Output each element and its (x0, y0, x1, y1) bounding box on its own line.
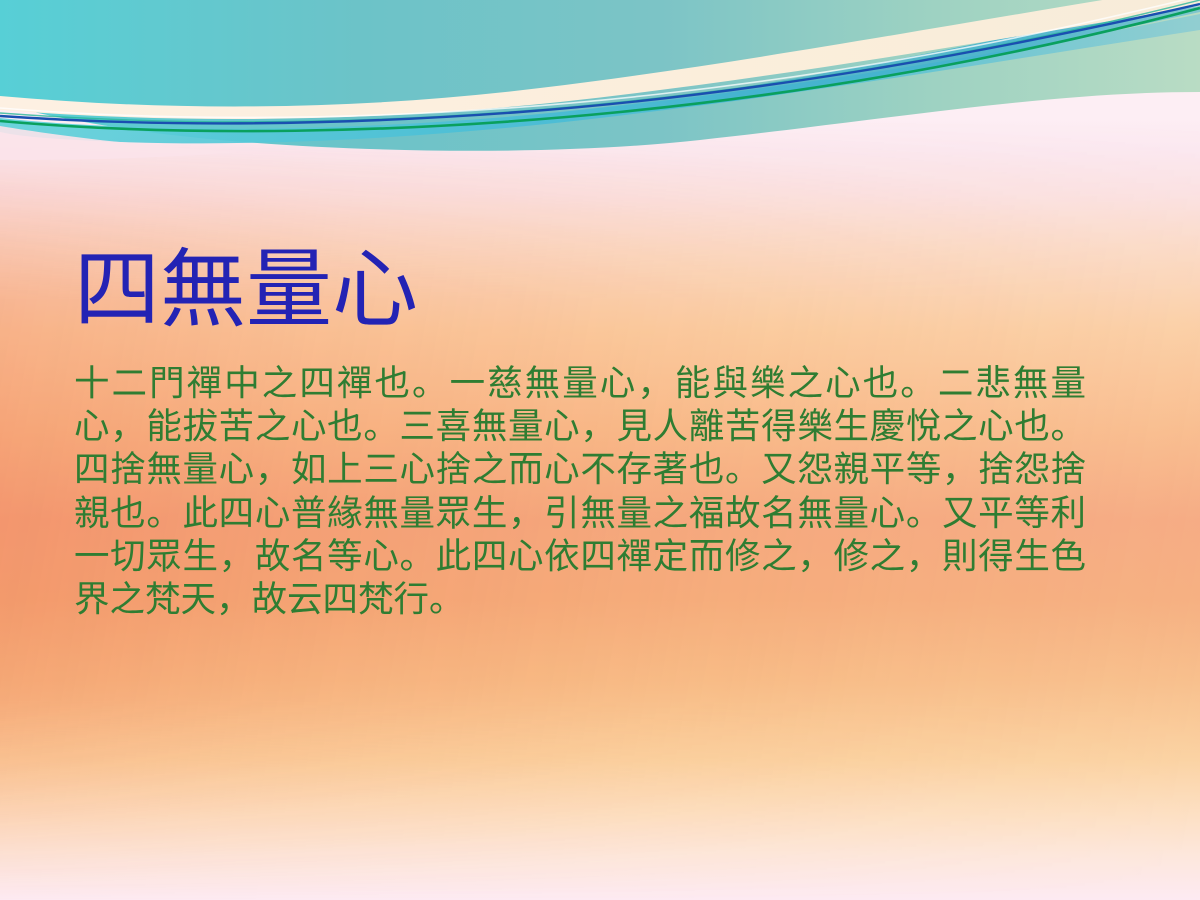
presentation-slide: 四無量心 十二門禪中之四禪也。一慈無量心，能與樂之心也。二悲無量心，能拔苦之心也… (0, 0, 1200, 900)
slide-body-text: 十二門禪中之四禪也。一慈無量心，能與樂之心也。二悲無量心，能拔苦之心也。三喜無量… (74, 362, 1086, 621)
slide-content: 四無量心 十二門禪中之四禪也。一慈無量心，能與樂之心也。二悲無量心，能拔苦之心也… (0, 0, 1200, 900)
slide-title: 四無量心 (74, 245, 418, 335)
